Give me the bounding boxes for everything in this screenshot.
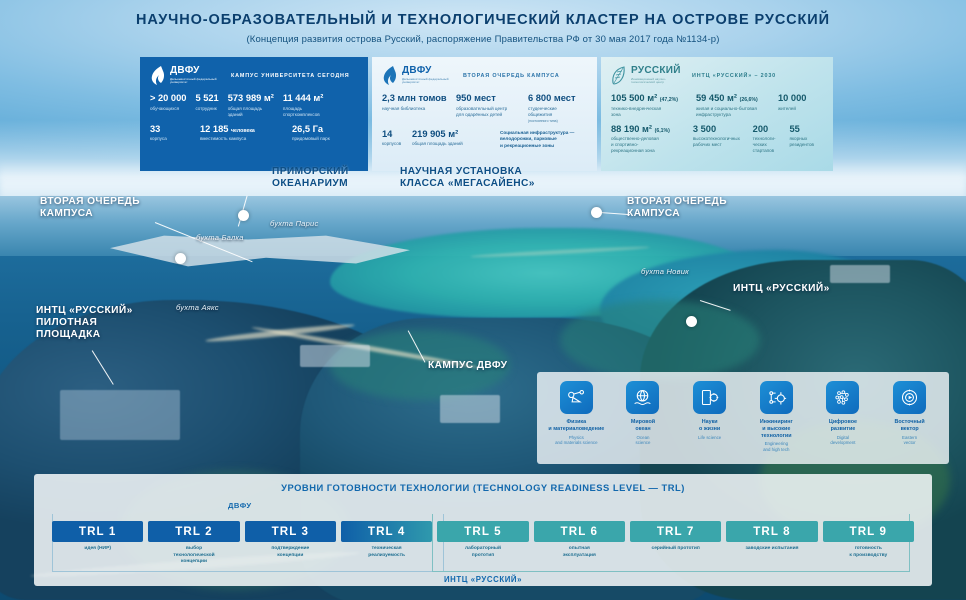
- trl-badge: TRL 1: [52, 521, 143, 542]
- map-pin-intc-russky[interactable]: [686, 316, 697, 327]
- stat-value: 200: [753, 125, 781, 135]
- stat-label: придомовый парк: [292, 136, 330, 142]
- direction-engineering[interactable]: Инжиниринг и высокие технологии Engineer…: [745, 381, 807, 452]
- engineering-icon: [760, 381, 793, 414]
- stat-item: 219 905 м² общая площадь зданий: [412, 130, 500, 150]
- direction-label-ru: Инжиниринг и высокие технологии: [745, 419, 807, 439]
- panel-kicker: КАМПУС УНИВЕРСИТЕТА СЕГОДНЯ: [231, 73, 350, 79]
- logo-tagline: Дальневосточный федеральный университет: [402, 78, 454, 85]
- stat-row: 88 190 м² (6,1%) общественно-деловая и с…: [611, 125, 823, 154]
- stat-label: студенческие общежития: [528, 106, 576, 118]
- urban-area: [830, 265, 890, 283]
- stat-value: 3 500: [693, 125, 744, 135]
- trl-badge: TRL 5: [437, 521, 528, 542]
- panel-kicker: ИНТЦ «РУССКИЙ» – 2030: [692, 73, 776, 79]
- russky-leaf-icon: [611, 66, 627, 85]
- physics-icon: [560, 381, 593, 414]
- direction-label-ru: Восточный вектор: [879, 419, 941, 433]
- callout-intc-pilot: ИНТЦ «РУССКИЙ» ПИЛОТНАЯ ПЛОЩАДКА: [36, 305, 133, 341]
- trl-card[interactable]: TRL 7 серийный прототип: [630, 521, 721, 566]
- callout-campus-stage2-west: ВТОРАЯ ОЧЕРЕДЬ КАМПУСА: [40, 196, 140, 220]
- stat-value: > 20 000: [150, 94, 186, 104]
- stat-item: 6 800 мест студенческие общежития (посто…: [528, 94, 585, 123]
- callout-label: ПРИМОРСКИЙ ОКЕАНАРИУМ: [272, 166, 349, 190]
- stat-label: вместимость кампуса: [200, 136, 283, 142]
- poster-header: НАУЧНО-ОБРАЗОВАТЕЛЬНЫЙ И ТЕХНОЛОГИЧЕСКИЙ…: [0, 12, 966, 45]
- trl-badge: TRL 9: [823, 521, 914, 542]
- direction-label-ru: Науки о жизни: [679, 419, 741, 433]
- stat-value: 950 мест: [456, 94, 519, 104]
- stat-label: корпусов: [382, 141, 403, 147]
- stat-suffix: человека: [231, 128, 255, 134]
- panel-dvfu-stage2: ДВФУ Дальневосточный федеральный универс…: [372, 57, 597, 171]
- stat-value: 105 500 м² (47,2%): [611, 94, 687, 104]
- stat-label: сотрудник: [195, 106, 218, 112]
- stat-value: 59 450 м² (26,6%): [696, 94, 769, 104]
- stat-row: 33 корпуса 12 185 человека вместимость к…: [150, 125, 358, 143]
- stat-item: > 20 000 обучающихся: [150, 94, 195, 118]
- logo-tagline: Инновационный научно-технологический цен…: [631, 78, 683, 85]
- direction-label-ru: Физика и материаловедение: [545, 419, 607, 433]
- stat-value: 573 989 м²: [228, 94, 274, 104]
- trl-title: УРОВНИ ГОТОВНОСТИ ТЕХНОЛОГИИ (TECHNOLOGY…: [34, 482, 932, 493]
- trl-card[interactable]: TRL 1 идея (НИР): [52, 521, 143, 566]
- page-subtitle: (Концепция развития острова Русский, рас…: [0, 34, 966, 45]
- stat-item: 12 185 человека вместимость кампуса: [200, 125, 292, 143]
- logo-name: ДВФУ: [170, 66, 222, 76]
- direction-physics[interactable]: Физика и материаловедение Physics and ma…: [545, 381, 607, 446]
- stat-item: 10 000 жителей: [778, 94, 815, 118]
- stat-label: технологи- ческих стартапов: [753, 136, 781, 154]
- stat-label: общая площадь зданий: [412, 141, 491, 147]
- callout-campus-dvfu: КАМПУС ДВФУ: [428, 360, 507, 372]
- stat-number: 105 500 м²: [611, 93, 657, 103]
- stat-value: 88 190 м² (6,1%): [611, 125, 684, 135]
- direction-life-science[interactable]: Науки о жизни Life science: [679, 381, 741, 440]
- stat-item: 88 190 м² (6,1%) общественно-деловая и с…: [611, 125, 693, 154]
- stat-item: 950 мест образовательный центр для одарё…: [456, 94, 528, 123]
- stat-item: 33 корпуса: [150, 125, 200, 143]
- stat-value: 219 905 м²: [412, 130, 491, 140]
- stat-label: обучающихся: [150, 106, 186, 112]
- stat-label: общественно-деловая и спортивно- рекреац…: [611, 136, 684, 154]
- direction-label-en: Digital development: [812, 435, 874, 446]
- bay-novik-label: бухта Новик: [641, 267, 689, 276]
- stat-label: научная библиотека: [382, 106, 447, 112]
- callout-label: ВТОРАЯ ОЧЕРЕДЬ КАМПУСА: [40, 196, 140, 220]
- stat-value: 14: [382, 130, 403, 140]
- stat-value: 33: [150, 125, 191, 135]
- callout-label: КАМПУС ДВФУ: [428, 360, 507, 372]
- dvfu-logo-icon: [150, 66, 166, 85]
- life-science-icon: [693, 381, 726, 414]
- trl-description: подтверждение концепции: [245, 546, 336, 559]
- direction-label-ru: Мировой океан: [612, 419, 674, 433]
- trl-badge: TRL 6: [534, 521, 625, 542]
- stat-item: 2,3 млн томов научная библиотека: [382, 94, 456, 123]
- trl-description: серийный прототип: [630, 546, 721, 553]
- callout-label: ИНТЦ «РУССКИЙ»: [733, 283, 830, 295]
- stat-value: 11 444 м²: [283, 94, 323, 104]
- stat-label: общая площадь зданий: [228, 106, 274, 118]
- page-title: НАУЧНО-ОБРАЗОВАТЕЛЬНЫЙ И ТЕХНОЛОГИЧЕСКИЙ…: [0, 12, 966, 28]
- trl-cards: TRL 1 идея (НИР) TRL 2 выбор технологиче…: [52, 521, 914, 566]
- urban-area: [60, 390, 180, 440]
- trl-badge: TRL 3: [245, 521, 336, 542]
- urban-area: [300, 345, 370, 367]
- infrastructure-note: Социальная инфраструктура — велодорожки,…: [500, 130, 574, 150]
- direction-eastern-vector[interactable]: Восточный вектор Eastern vector: [879, 381, 941, 446]
- trl-group-label-dvfu: ДВФУ: [228, 501, 252, 510]
- stat-panels: ДВФУ Дальневосточный федеральный универс…: [140, 57, 833, 171]
- stat-item: 3 500 высокотехнологичных рабочих мест: [693, 125, 753, 154]
- direction-label-en: Ocean science: [612, 435, 674, 446]
- panel-header: ДВФУ Дальневосточный федеральный универс…: [382, 66, 587, 85]
- ocean-icon: [626, 381, 659, 414]
- direction-ocean[interactable]: Мировой океан Ocean science: [612, 381, 674, 446]
- stat-row: 14 корпусов 219 905 м² общая площадь зда…: [382, 130, 587, 150]
- callout-oceanarium: ПРИМОРСКИЙ ОКЕАНАРИУМ: [272, 166, 349, 190]
- direction-label-en: Eastern vector: [879, 435, 941, 446]
- vegetation-patch: [560, 300, 760, 380]
- stat-item: 59 450 м² (26,6%) жилая и социально-быто…: [696, 94, 778, 118]
- eastern-vector-icon: [893, 381, 926, 414]
- trl-description: выбор технологической концепции: [148, 546, 239, 566]
- stat-value: 55: [789, 125, 814, 135]
- trl-card[interactable]: TRL 9 готовность к производству: [823, 521, 914, 566]
- stat-label: площадь спорткомплексов: [283, 106, 323, 118]
- trl-card[interactable]: TRL 5 лабораторный прототип: [437, 521, 528, 566]
- stat-item: 14 корпусов: [382, 130, 412, 150]
- trl-description: идея (НИР): [52, 546, 143, 553]
- stat-value: 26,5 Га: [292, 125, 330, 135]
- research-directions-strip: Физика и материаловедение Physics and ma…: [537, 372, 949, 464]
- trl-description: готовность к производству: [823, 546, 914, 559]
- stat-item: 55 якорных резидентов: [789, 125, 823, 154]
- stat-label: образовательный центр для одарённых дете…: [456, 106, 519, 118]
- trl-card[interactable]: TRL 8 заводские испытания: [726, 521, 817, 566]
- callout-label: ИНТЦ «РУССКИЙ» ПИЛОТНАЯ ПЛОЩАДКА: [36, 305, 133, 341]
- stat-value: 10 000: [778, 94, 806, 104]
- trl-description: техническая реализуемость: [341, 546, 432, 559]
- stat-row: > 20 000 обучающихся 5 521 сотрудник 573…: [150, 94, 358, 118]
- trl-badge: TRL 4: [341, 521, 432, 542]
- stat-item: 105 500 м² (47,2%) технико-внедренческая…: [611, 94, 696, 118]
- trl-description: лабораторный прототип: [437, 546, 528, 559]
- panel-header: РУССКИЙ Инновационный научно-технологиче…: [611, 66, 823, 85]
- infographic-poster: НАУЧНО-ОБРАЗОВАТЕЛЬНЫЙ И ТЕХНОЛОГИЧЕСКИЙ…: [0, 0, 966, 600]
- callout-campus-stage2-east: ВТОРАЯ ОЧЕРЕДЬ КАМПУСА: [627, 196, 727, 220]
- map-pin-campus-stage2-west[interactable]: [175, 253, 186, 264]
- trl-badge: TRL 2: [148, 521, 239, 542]
- stat-value: 12 185 человека: [200, 125, 283, 135]
- stat-label: жилая и социально-бытовая инфраструктура: [696, 106, 769, 118]
- callout-megascience: НАУЧНАЯ УСТАНОВКА КЛАССА «МЕГАСАЙЕНС»: [400, 166, 535, 190]
- trl-group-label-intc: ИНТЦ «РУССКИЙ»: [34, 575, 932, 584]
- stat-item: 5 521 сотрудник: [195, 94, 227, 118]
- panel-header: ДВФУ Дальневосточный федеральный универс…: [150, 66, 358, 85]
- stat-row: 105 500 м² (47,2%) технико-внедренческая…: [611, 94, 823, 118]
- map-pin-campus-stage2-east[interactable]: [591, 207, 602, 218]
- direction-label-en: Physics and materials science: [545, 435, 607, 446]
- logo-tagline: Дальневосточный федеральный университет: [170, 78, 222, 85]
- stat-value: 6 800 мест: [528, 94, 576, 104]
- trl-badge: TRL 8: [726, 521, 817, 542]
- bay-balka-label: бухта Балка: [196, 233, 244, 242]
- direction-label-ru: Цифровое развитие: [812, 419, 874, 433]
- stat-row: 2,3 млн томов научная библиотека 950 мес…: [382, 94, 587, 123]
- urban-area: [440, 395, 500, 423]
- stat-item: 573 989 м² общая площадь зданий: [228, 94, 283, 118]
- stat-label: технико-внедренческая зона: [611, 106, 687, 118]
- panel-intc-russky: РУССКИЙ Инновационный научно-технологиче…: [601, 57, 833, 171]
- stat-value: 2,3 млн томов: [382, 94, 447, 104]
- digital-icon: [826, 381, 859, 414]
- stat-percent: (6,1%): [655, 128, 670, 134]
- russky-logo: РУССКИЙ Инновационный научно-технологиче…: [611, 66, 683, 85]
- callout-label: НАУЧНАЯ УСТАНОВКА КЛАССА «МЕГАСАЙЕНС»: [400, 166, 535, 190]
- stat-note: (постоянного типа): [528, 119, 576, 123]
- stat-number: 12 185: [200, 124, 228, 134]
- dvfu-logo: ДВФУ Дальневосточный федеральный универс…: [382, 66, 454, 85]
- callout-intc-russky: ИНТЦ «РУССКИЙ»: [733, 283, 830, 295]
- dvfu-logo-icon: [382, 66, 398, 85]
- trl-description: заводские испытания: [726, 546, 817, 553]
- direction-label-en: Life science: [679, 435, 741, 441]
- direction-label-en: Engineering and high tech: [745, 441, 807, 452]
- trl-description: опытная эксплуатация: [534, 546, 625, 559]
- trl-card[interactable]: TRL 4 техническая реализуемость: [341, 521, 432, 566]
- stat-item: 11 444 м² площадь спорткомплексов: [283, 94, 332, 118]
- trl-card[interactable]: TRL 2 выбор технологической концепции: [148, 521, 239, 566]
- panel-dvfu-today: ДВФУ Дальневосточный федеральный универс…: [140, 57, 368, 171]
- stat-percent: (47,2%): [660, 97, 678, 103]
- direction-digital[interactable]: Цифровое развитие Digital development: [812, 381, 874, 446]
- stat-label: корпуса: [150, 136, 191, 142]
- trl-section: УРОВНИ ГОТОВНОСТИ ТЕХНОЛОГИИ (TECHNOLOGY…: [34, 474, 932, 586]
- trl-card[interactable]: TRL 6 опытная эксплуатация: [534, 521, 625, 566]
- trl-card[interactable]: TRL 3 подтверждение концепции: [245, 521, 336, 566]
- stat-item: 200 технологи- ческих стартапов: [753, 125, 790, 154]
- stat-number: 59 450 м²: [696, 93, 737, 103]
- dvfu-logo: ДВФУ Дальневосточный федеральный универс…: [150, 66, 222, 85]
- trl-badge: TRL 7: [630, 521, 721, 542]
- stat-value: 5 521: [195, 94, 218, 104]
- bay-parys-label: бухта Парис: [270, 219, 318, 228]
- stat-label: якорных резидентов: [789, 136, 814, 148]
- map-pin-oceanarium[interactable]: [238, 210, 249, 221]
- panel-kicker: ВТОРАЯ ОЧЕРЕДЬ КАМПУСА: [463, 73, 560, 79]
- stat-item: 26,5 Га придомовый парк: [292, 125, 339, 143]
- logo-name: РУССКИЙ: [631, 66, 683, 76]
- stat-label: высокотехнологичных рабочих мест: [693, 136, 744, 148]
- callout-label: ВТОРАЯ ОЧЕРЕДЬ КАМПУСА: [627, 196, 727, 220]
- logo-name: ДВФУ: [402, 66, 454, 76]
- stat-percent: (26,6%): [740, 97, 758, 103]
- stat-number: 88 190 м²: [611, 124, 652, 134]
- bay-ayaks-label: бухта Аякс: [176, 303, 219, 312]
- stat-label: жителей: [778, 106, 806, 112]
